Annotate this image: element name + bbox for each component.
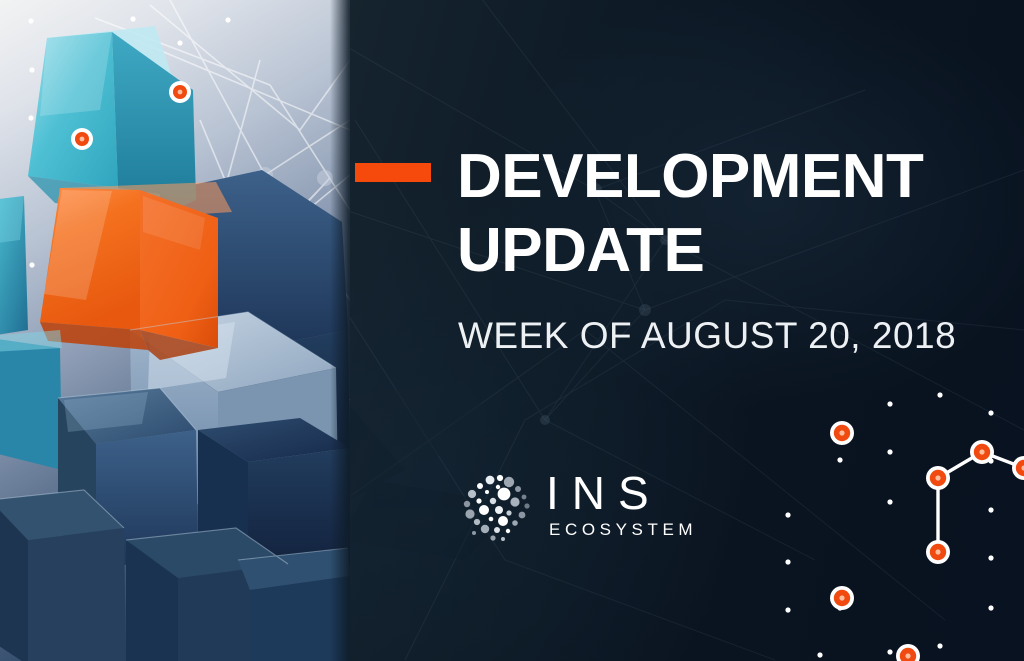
ins-ecosystem-logo: INS ECOSYSTEM	[460, 468, 675, 548]
network-node-constellation	[760, 390, 1024, 661]
slide-canvas: DEVELOPMENT UPDATE WEEK OF AUGUST 20, 20…	[0, 0, 1024, 661]
accent-dash	[355, 163, 431, 182]
panel-edge-fade	[330, 0, 350, 661]
cube-artwork-panel	[0, 0, 350, 661]
ins-dot-sphere-icon	[460, 470, 536, 546]
logo-wordmark: INS ECOSYSTEM	[546, 468, 697, 541]
logo-tagline: ECOSYSTEM	[546, 519, 697, 541]
title-block: DEVELOPMENT UPDATE	[457, 140, 977, 288]
logo-name: INS	[546, 468, 697, 518]
page-title-line-2: UPDATE	[457, 214, 977, 288]
page-title-line-1: DEVELOPMENT	[457, 140, 977, 214]
page-subtitle: WEEK OF AUGUST 20, 2018	[458, 315, 956, 357]
